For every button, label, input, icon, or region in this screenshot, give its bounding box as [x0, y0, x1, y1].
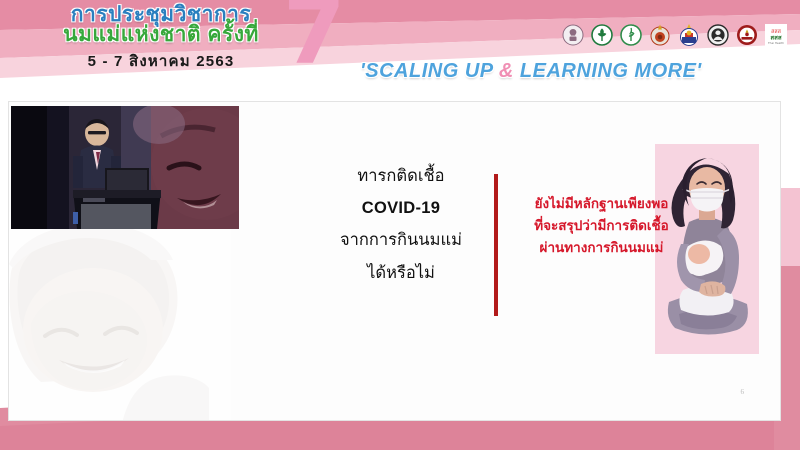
- tagline-prefix: 'SCALING UP: [360, 60, 499, 82]
- thai-royal-crest-logo: [677, 24, 701, 54]
- tagline-suffix: LEARNING MORE': [514, 60, 702, 82]
- tagline-ampersand: &: [499, 60, 514, 82]
- sponsor-logo-row: สสสสสสThai Health: [561, 24, 788, 54]
- red-divider-bar: [494, 174, 498, 316]
- ministry-of-public-health-logo: [590, 24, 614, 54]
- thai-breastfeeding-foundation-logo: [561, 24, 585, 54]
- red-seal-logo: [735, 24, 759, 54]
- conference-tagline: 'SCALING UP & LEARNING MORE': [360, 60, 702, 83]
- thaihealth-sss-logo: สสสสสสThai Health: [764, 24, 788, 54]
- royal-emblem-logo: [648, 24, 672, 54]
- speaker-podium-photo[interactable]: [11, 106, 239, 229]
- smiling-baby-photo: [8, 212, 231, 421]
- question-line-2: COVID-19: [311, 192, 491, 224]
- svg-text:Thai Health: Thai Health: [767, 41, 784, 45]
- national-health-commission-logo: [706, 24, 730, 54]
- answer-line-1: ยังไม่มีหลักฐานเพียงพอ: [509, 194, 694, 216]
- conference-title: การประชุมวิชาการ นมแม่แห่งชาติ ครั้งที่ …: [16, 4, 306, 73]
- page-number: 6: [741, 388, 745, 396]
- question-text-block: ทารกติดเชื้อ COVID-19 จากการกินนมแม่ ได้…: [311, 160, 491, 289]
- presentation-slide: ทารกติดเชื้อ COVID-19 จากการกินนมแม่ ได้…: [8, 101, 781, 421]
- answer-text-block: ยังไม่มีหลักฐานเพียงพอ ที่จะสรุปว่ามีการ…: [509, 194, 694, 260]
- question-line-4: ได้หรือไม่: [311, 257, 491, 289]
- question-line-1: ทารกติดเชื้อ: [311, 160, 491, 192]
- answer-line-3: ผ่านทางการกินนมแม่: [509, 238, 694, 260]
- conference-header: 7 การประชุมวิชาการ นมแม่แห่งชาติ ครั้งที…: [0, 0, 800, 100]
- slide-screenshot: 7 การประชุมวิชาการ นมแม่แห่งชาติ ครั้งที…: [0, 0, 800, 450]
- question-line-3: จากการกินนมแม่: [311, 224, 491, 256]
- answer-line-2: ที่จะสรุปว่ามีการติดเชื้อ: [509, 216, 694, 238]
- department-of-health-logo: [619, 24, 643, 54]
- conference-date: 5 - 7 สิงหาคม 2563: [16, 49, 306, 73]
- conference-title-line2: นมแม่แห่งชาติ ครั้งที่: [16, 24, 306, 46]
